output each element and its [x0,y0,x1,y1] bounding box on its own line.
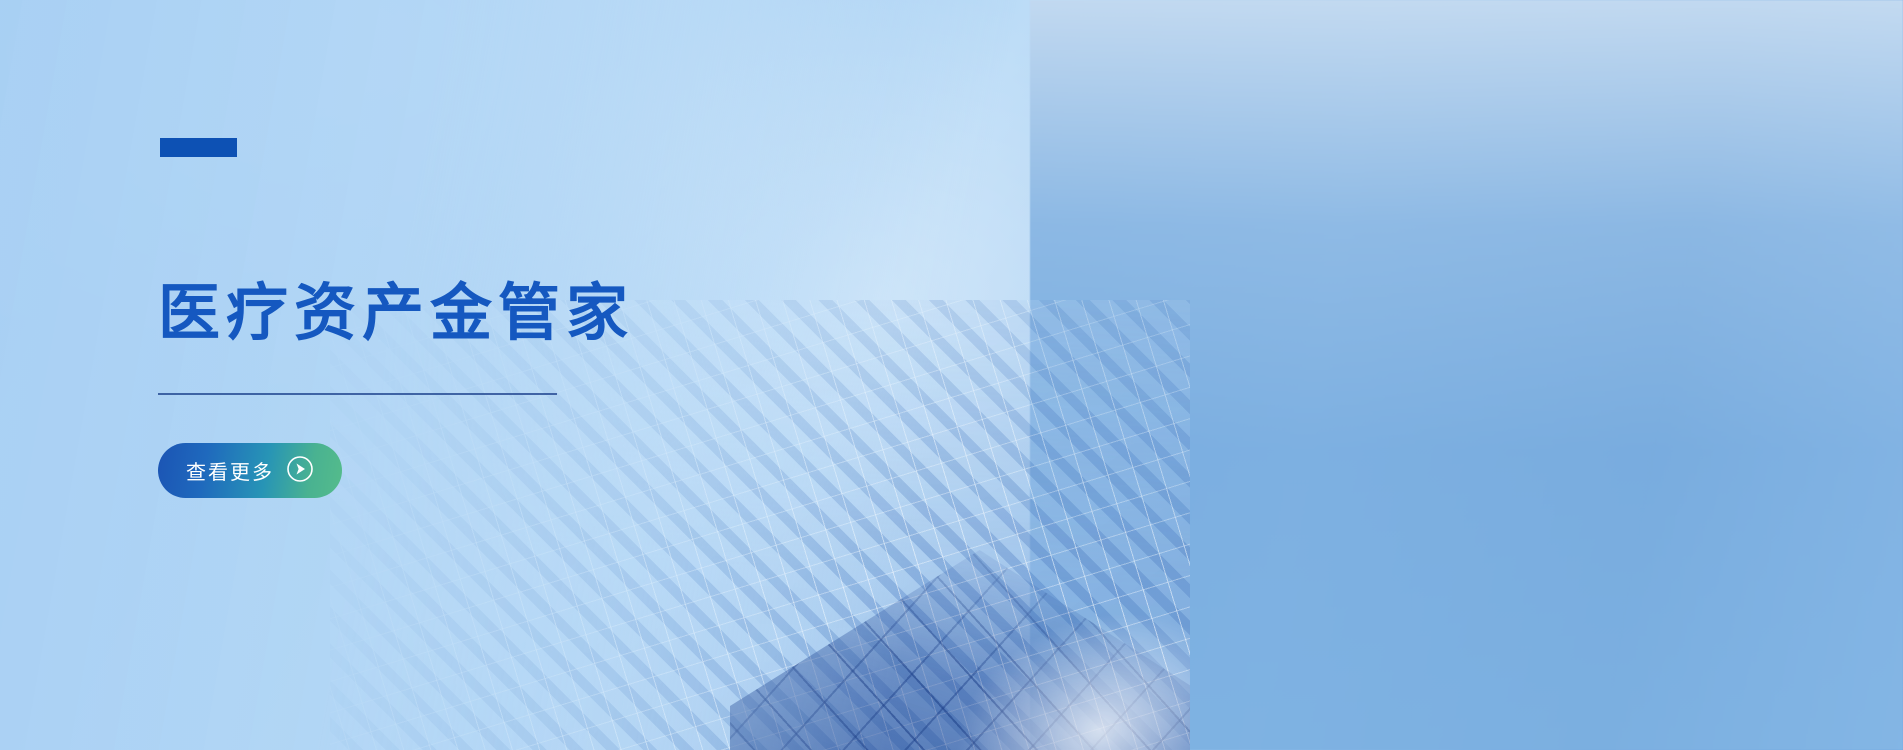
hero-banner: 医疗资产金管家 查看更多 服务于 临床科室 以专业 [0,0,1903,750]
view-more-button-label: 查看更多 [186,456,274,485]
accent-dash-decoration [160,138,237,157]
view-more-button[interactable]: 查看更多 [158,443,342,498]
horizontal-divider [158,393,557,395]
page-title: 医疗资产金管家 [158,278,634,349]
service-cards-list: 服务于 临床科室 以专业高效的技术和质控服务，助力临 床科室保障医疗设备的安全有… [1123,0,1903,750]
hero-text-column: 医疗资产金管家 查看更多 [158,0,818,750]
arrow-right-circle-icon [286,455,314,486]
